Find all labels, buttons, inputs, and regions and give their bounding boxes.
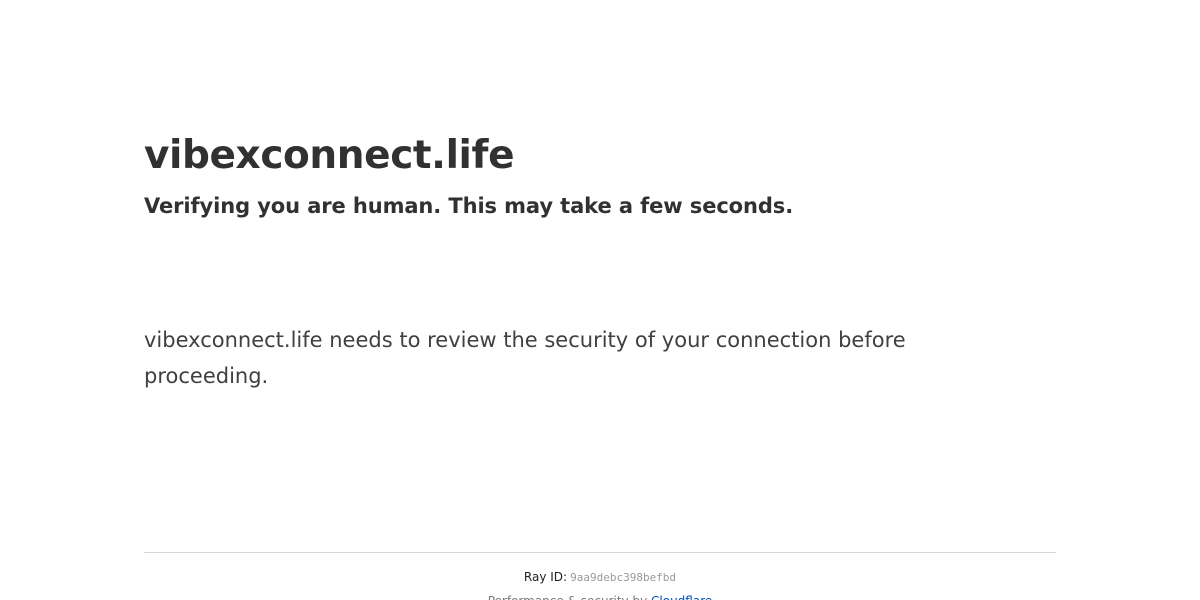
attribution-line: Performance & security by Cloudflare [144, 585, 1056, 600]
header-block: vibexconnect.life Verifying you are huma… [144, 131, 1056, 220]
cloudflare-link[interactable]: Cloudflare [651, 594, 712, 600]
ray-id-label: Ray ID: [524, 570, 567, 584]
ray-id-value: 9aa9debc398befbd [567, 571, 676, 584]
ray-id-line: Ray ID:9aa9debc398befbd [144, 553, 1056, 585]
turnstile-widget-container[interactable] [144, 241, 1056, 311]
attribution-prefix: Performance & security by [488, 594, 651, 600]
footer: Ray ID:9aa9debc398befbd Performance & se… [144, 552, 1056, 600]
security-review-message: vibexconnect.life needs to review the se… [144, 322, 944, 394]
verification-status-text: Verifying you are human. This may take a… [144, 181, 1056, 220]
content-column: vibexconnect.life Verifying you are huma… [144, 0, 1056, 600]
challenge-page: vibexconnect.life Verifying you are huma… [0, 0, 1200, 600]
page-title: vibexconnect.life [144, 131, 1056, 181]
